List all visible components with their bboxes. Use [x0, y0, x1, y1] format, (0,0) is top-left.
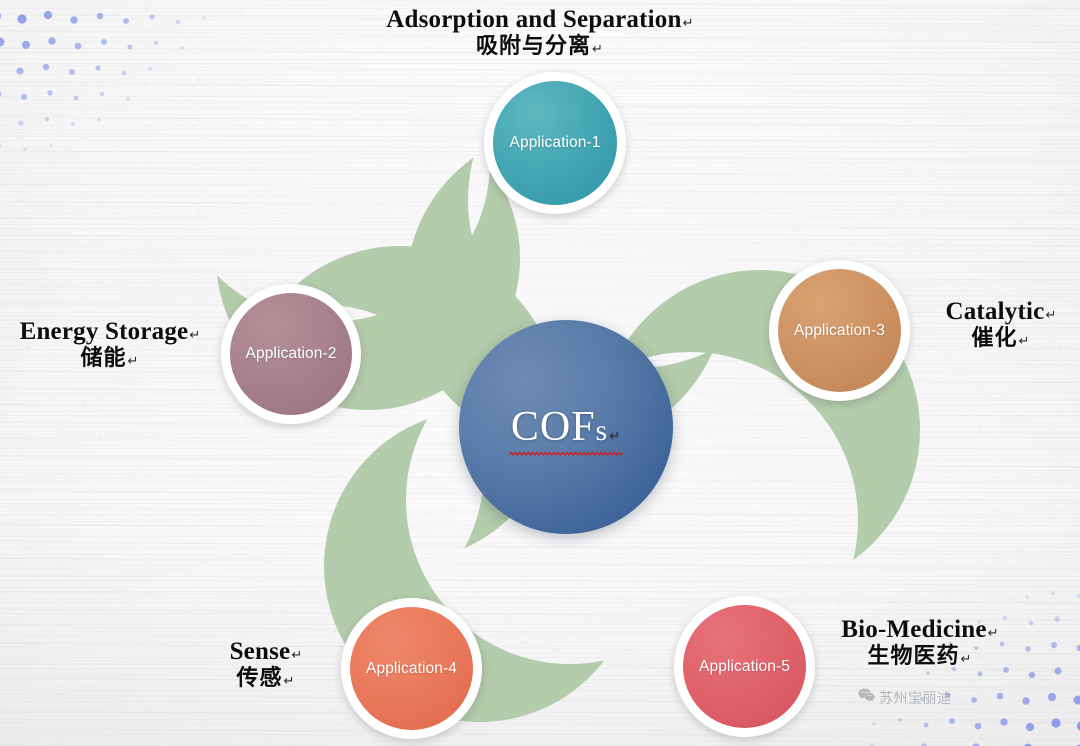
- label-bio-medicine: Bio-Medicine↵ 生物医药↵: [822, 616, 1018, 670]
- center-node-text: COFs↵: [511, 406, 621, 448]
- application-node-3[interactable]: Application-3: [769, 260, 910, 401]
- application-node-2-label: Application-2: [246, 345, 337, 363]
- label-energy-en: Energy Storage↵: [4, 318, 216, 346]
- label-catalytic-zh: 催化↵: [922, 327, 1080, 352]
- pilcrow-mark: ↵: [608, 429, 621, 444]
- application-node-4-label: Application-4: [366, 660, 457, 678]
- label-catalytic-en: Catalytic↵: [922, 298, 1080, 326]
- application-node-2[interactable]: Application-2: [221, 284, 361, 424]
- label-energy-zh: 储能↵: [4, 347, 216, 372]
- watermark-text: 苏州宝丽迪: [879, 688, 952, 708]
- application-node-5[interactable]: Application-5: [674, 596, 815, 737]
- application-node-1[interactable]: Application-1: [484, 72, 626, 214]
- application-node-5-label: Application-5: [699, 658, 790, 676]
- application-node-3-label: Application-3: [794, 322, 885, 340]
- label-adsorption-en: Adsorption and Separation↵: [330, 6, 750, 34]
- label-sense: Sense↵ 传感↵: [196, 638, 336, 692]
- application-node-1-label: Application-1: [510, 134, 601, 152]
- label-sense-en: Sense↵: [196, 638, 336, 666]
- center-node-subscript: s: [596, 414, 609, 447]
- application-node-4[interactable]: Application-4: [341, 598, 482, 739]
- label-adsorption-and-separation: Adsorption and Separation↵ 吸附与分离↵: [330, 6, 750, 60]
- center-node-cofs[interactable]: COFs↵: [459, 320, 673, 534]
- label-sense-zh: 传感↵: [196, 667, 336, 692]
- center-node-main: COF: [511, 404, 596, 450]
- label-bio-zh: 生物医药↵: [822, 645, 1018, 670]
- diagram-canvas: COFs↵ Application-1 Application-2 Applic…: [0, 0, 1080, 746]
- spellcheck-underline: [509, 451, 623, 457]
- label-energy-storage: Energy Storage↵ 储能↵: [4, 318, 216, 372]
- label-bio-en: Bio-Medicine↵: [822, 616, 1018, 644]
- wechat-icon: [858, 688, 875, 708]
- label-catalytic: Catalytic↵ 催化↵: [922, 298, 1080, 352]
- label-adsorption-zh: 吸附与分离↵: [330, 35, 750, 60]
- watermark: 苏州宝丽迪: [858, 688, 952, 708]
